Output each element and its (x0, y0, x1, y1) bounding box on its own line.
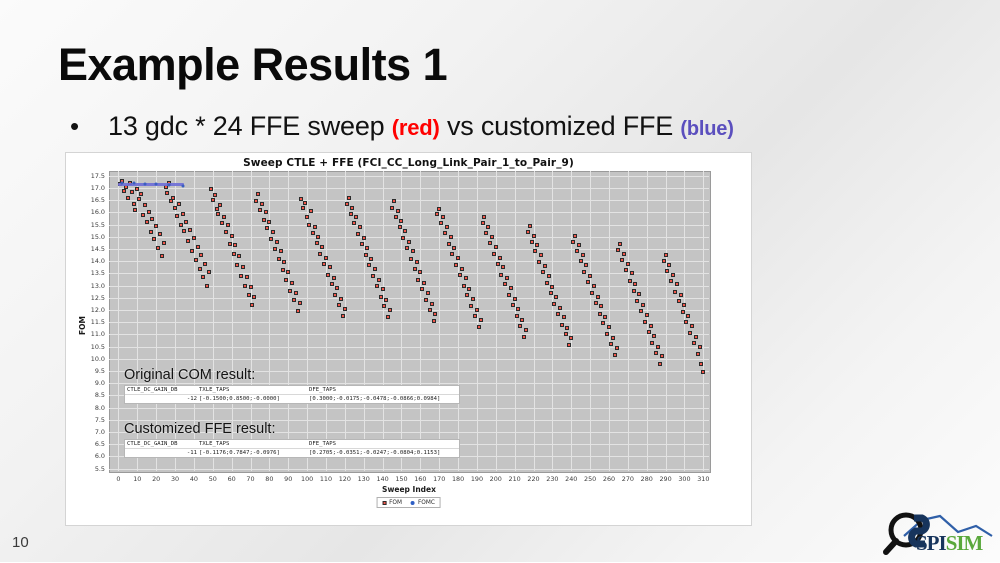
y-tick-label: 8.0 (65, 404, 105, 412)
data-point-fom (354, 215, 358, 219)
data-point-fom (528, 224, 532, 228)
y-gridline (109, 347, 709, 348)
data-point-fom (445, 225, 449, 229)
data-point-fom (449, 235, 453, 239)
data-point-fom (615, 346, 619, 350)
data-point-fom (609, 342, 613, 346)
data-point-fom (198, 267, 202, 271)
y-gridline (109, 237, 709, 238)
data-point-fom (258, 208, 262, 212)
data-point-fom (643, 320, 647, 324)
x-tick-label: 280 (641, 475, 653, 483)
page-number: 10 (12, 534, 29, 551)
data-point-fom (694, 335, 698, 339)
legend-item-fom: FOM (382, 500, 402, 506)
data-point-fom (184, 220, 188, 224)
x-tick-label: 150 (395, 475, 407, 483)
data-point-fom (226, 223, 230, 227)
data-point-fom (482, 215, 486, 219)
y-tick-label: 12.0 (65, 306, 105, 314)
data-point-fom (624, 268, 628, 272)
data-point-fom (549, 291, 553, 295)
data-point-fom (369, 257, 373, 261)
x-tick-label: 140 (376, 475, 388, 483)
data-point-fom (411, 249, 415, 253)
data-point-fom (247, 293, 251, 297)
data-point-fom (296, 309, 300, 313)
data-point-fom (273, 247, 277, 251)
x-tick-label: 130 (358, 475, 370, 483)
data-point-fom (496, 262, 500, 266)
data-point-fom (230, 234, 234, 238)
data-point-fom (401, 236, 405, 240)
data-point-fom (165, 191, 169, 195)
data-point-fom (313, 225, 317, 229)
data-point-fom (377, 278, 381, 282)
data-point-fom (415, 260, 419, 264)
x-tick-label: 90 (284, 475, 292, 483)
data-point-fom (177, 202, 181, 206)
data-point-fom (541, 270, 545, 274)
data-point-fom (241, 265, 245, 269)
anno1-col-1: TXLE_TAPS (199, 441, 309, 447)
data-point-fom (249, 285, 253, 289)
y-tick-label: 6.0 (65, 452, 105, 460)
data-point-fom (318, 252, 322, 256)
data-point-fom (426, 291, 430, 295)
annotation-original-com: Original COM result: CTLE_DC_GAIN_DB TXL… (124, 367, 460, 404)
data-point-fom (316, 235, 320, 239)
data-point-fom (645, 313, 649, 317)
data-point-fom (228, 242, 232, 246)
x-tick-label: 300 (678, 475, 690, 483)
bullet-text-part1: 13 gdc * 24 FFE sweep (108, 111, 392, 141)
chart-container: Sweep CTLE + FFE (FCI_CC_Long_Link_Pair_… (66, 153, 751, 525)
x-tick-label: 120 (339, 475, 351, 483)
y-tick-label: 9.0 (65, 379, 105, 387)
data-point-fom (475, 308, 479, 312)
data-point-fomc (121, 181, 124, 184)
data-point-fom (569, 336, 573, 340)
x-gridline (590, 171, 591, 471)
y-gridline (109, 225, 709, 226)
data-point-fom (418, 270, 422, 274)
data-point-fom (311, 231, 315, 235)
x-tick-label: 20 (152, 475, 160, 483)
bullet-text: 13 gdc * 24 FFE sweep (red) vs customize… (108, 111, 734, 142)
x-tick-label: 310 (697, 475, 709, 483)
data-point-fom (192, 236, 196, 240)
anno1-val-2: [0.2705;-0.0351;-0.0247;-0.0804;0.1153] (309, 450, 459, 456)
data-point-fom (216, 212, 220, 216)
data-point-fom (250, 303, 254, 307)
y-gridline (109, 359, 709, 360)
data-point-fom (588, 274, 592, 278)
data-point-fom (188, 228, 192, 232)
data-point-fom (603, 315, 607, 319)
y-tick-label: 6.5 (65, 440, 105, 448)
legend-label: FOMC (418, 500, 435, 506)
x-tick-label: 170 (433, 475, 445, 483)
data-point-fomc (132, 182, 135, 185)
data-point-fom (284, 278, 288, 282)
x-tick-label: 220 (527, 475, 539, 483)
data-point-fom (175, 214, 179, 218)
data-point-fom (262, 218, 266, 222)
data-point-fom (245, 275, 249, 279)
data-point-fom (422, 281, 426, 285)
data-point-fom (437, 207, 441, 211)
data-point-fom (394, 215, 398, 219)
chart-legend: FOM FOMC (376, 497, 441, 508)
x-tick-label: 230 (546, 475, 558, 483)
data-point-fom (209, 187, 213, 191)
x-gridline (571, 171, 572, 471)
data-point-fom (356, 232, 360, 236)
x-tick-label: 260 (603, 475, 615, 483)
x-tick-label: 80 (265, 475, 273, 483)
data-point-fom (398, 225, 402, 229)
y-gridline (109, 322, 709, 323)
data-point-fom (699, 362, 703, 366)
data-point-fom (682, 303, 686, 307)
x-gridline (118, 171, 119, 471)
x-tick-label: 40 (190, 475, 198, 483)
x-gridline (552, 171, 553, 471)
y-gridline (109, 310, 709, 311)
data-point-fom (233, 243, 237, 247)
x-gridline (534, 171, 535, 471)
data-point-fom (139, 192, 143, 196)
x-gridline (515, 171, 516, 471)
anno0-val-2: [0.3000;-0.0175;-0.0478;-0.0866;0.0984] (309, 396, 459, 402)
y-tick-label: 10.5 (65, 343, 105, 351)
annotation-heading: Customized FFE result: (124, 421, 460, 437)
data-point-fom (560, 323, 564, 327)
data-point-fom (332, 276, 336, 280)
data-point-fom (465, 293, 469, 297)
data-point-fom (547, 274, 551, 278)
data-point-fom (522, 335, 526, 339)
data-point-fom (441, 215, 445, 219)
y-tick-label: 8.5 (65, 391, 105, 399)
data-point-fom (190, 249, 194, 253)
data-point-fom (315, 241, 319, 245)
y-gridline (109, 469, 709, 470)
data-point-fom (301, 206, 305, 210)
data-point-fom (537, 260, 541, 264)
data-point-fom (567, 343, 571, 347)
data-point-fom (381, 287, 385, 291)
data-point-fom (243, 284, 247, 288)
data-point-fom (490, 235, 494, 239)
x-tick-label: 70 (246, 475, 254, 483)
data-point-fom (456, 256, 460, 260)
data-point-fom (616, 248, 620, 252)
data-point-fom (598, 312, 602, 316)
data-point-fom (690, 324, 694, 328)
annotation-customized-ffe: Customized FFE result: CTLE_DC_GAIN_DB T… (124, 421, 460, 458)
annotation-heading: Original COM result: (124, 367, 460, 383)
data-point-fom (439, 221, 443, 225)
data-point-fom (443, 231, 447, 235)
data-point-fom (352, 221, 356, 225)
y-tick-label: 16.5 (65, 196, 105, 204)
data-point-fom (290, 281, 294, 285)
data-point-fom (565, 326, 569, 330)
data-point-fom (364, 253, 368, 257)
data-point-fom (701, 370, 705, 374)
data-point-fom (562, 315, 566, 319)
data-point-fom (592, 284, 596, 288)
data-point-fom (511, 303, 515, 307)
y-tick-label: 16.0 (65, 208, 105, 216)
data-point-fom (326, 273, 330, 277)
data-point-fom (196, 245, 200, 249)
data-point-fom (392, 199, 396, 203)
data-point-fomc (181, 184, 184, 187)
data-point-fom (265, 226, 269, 230)
data-point-fom (435, 212, 439, 216)
anno1-val-1: [-0.1176;0.7847;-0.0976] (199, 450, 309, 456)
data-point-fom (605, 332, 609, 336)
y-gridline (109, 188, 709, 189)
data-point-fom (207, 270, 211, 274)
y-tick-label: 17.5 (65, 172, 105, 180)
data-point-fom (692, 341, 696, 345)
data-point-fom (652, 334, 656, 338)
data-point-fom (162, 241, 166, 245)
x-gridline (666, 171, 667, 471)
data-point-fom (675, 282, 679, 286)
data-point-fom (518, 324, 522, 328)
x-tick-label: 200 (490, 475, 502, 483)
data-point-fom (150, 217, 154, 221)
data-point-fom (513, 297, 517, 301)
data-point-fom (577, 243, 581, 247)
data-point-fom (662, 259, 666, 263)
x-tick-label: 250 (584, 475, 596, 483)
data-point-fom (264, 210, 268, 214)
data-point-fom (349, 212, 353, 216)
x-gridline (703, 171, 704, 471)
y-tick-label: 13.0 (65, 282, 105, 290)
data-point-fom (579, 259, 583, 263)
anno1-col-0: CTLE_DC_GAIN_DB (125, 441, 199, 447)
data-point-fom (271, 230, 275, 234)
data-point-fom (279, 249, 283, 253)
fomc-trend-line (118, 183, 184, 186)
x-tick-label: 10 (133, 475, 141, 483)
data-point-fom (339, 297, 343, 301)
data-point-fom (213, 193, 217, 197)
data-point-fom (320, 245, 324, 249)
data-point-fom (307, 223, 311, 227)
y-tick-label: 12.5 (65, 294, 105, 302)
data-point-fom (622, 252, 626, 256)
data-point-fom (469, 304, 473, 308)
data-point-fom (509, 286, 513, 290)
data-point-fom (630, 271, 634, 275)
data-point-fom (386, 315, 390, 319)
y-tick-label: 10.0 (65, 355, 105, 363)
data-point-fom (586, 280, 590, 284)
data-point-fom (637, 292, 641, 296)
data-point-fom (294, 291, 298, 295)
data-point-fom (305, 215, 309, 219)
data-point-fom (335, 286, 339, 290)
data-point-fom (656, 345, 660, 349)
data-point-fom (237, 254, 241, 258)
y-tick-label: 13.5 (65, 269, 105, 277)
data-point-fom (367, 263, 371, 267)
anno0-val-0: -12 (125, 396, 199, 402)
data-point-fom (515, 314, 519, 318)
x-gridline (628, 171, 629, 471)
data-point-fom (679, 293, 683, 297)
data-point-fom (343, 307, 347, 311)
data-point-fom (535, 243, 539, 247)
data-point-fom (628, 279, 632, 283)
data-point-fom (503, 282, 507, 286)
data-point-fom (413, 267, 417, 271)
data-point-fom (328, 265, 332, 269)
data-point-fom (362, 236, 366, 240)
data-point-fom (235, 263, 239, 267)
data-point-fom (669, 279, 673, 283)
data-point-fom (298, 301, 302, 305)
data-point-fom (390, 206, 394, 210)
data-point-fom (181, 212, 185, 216)
x-gridline (647, 171, 648, 471)
data-point-fom (671, 273, 675, 277)
y-tick-label: 15.0 (65, 233, 105, 241)
data-point-fom (654, 351, 658, 355)
data-point-fom (626, 262, 630, 266)
data-point-fom (222, 215, 226, 219)
data-point-fom (664, 253, 668, 257)
data-point-fom (379, 295, 383, 299)
bullet-item: • 13 gdc * 24 FFE sweep (red) vs customi… (70, 106, 970, 146)
y-gridline (109, 334, 709, 335)
legend-item-fomc: FOMC (411, 500, 435, 506)
anno0-col-2: DFE_TAPS (309, 387, 459, 393)
data-point-fom (399, 219, 403, 223)
data-point-fom (452, 246, 456, 250)
data-point-fom (667, 263, 671, 267)
data-point-fom (520, 318, 524, 322)
data-point-fom (618, 242, 622, 246)
data-point-fom (286, 270, 290, 274)
data-point-fom (660, 354, 664, 358)
data-point-fom (432, 319, 436, 323)
data-point-fom (407, 240, 411, 244)
data-point-fom (639, 309, 643, 313)
data-point-fom (126, 196, 130, 200)
data-point-fom (492, 252, 496, 256)
data-point-fom (145, 220, 149, 224)
data-point-fom (688, 331, 692, 335)
data-point-fom (350, 206, 354, 210)
data-point-fom (133, 208, 137, 212)
data-point-fom (607, 325, 611, 329)
data-point-fom (275, 240, 279, 244)
data-point-fom (479, 318, 483, 322)
data-point-fom (462, 284, 466, 288)
data-point-fom (182, 229, 186, 233)
data-point-fom (260, 202, 264, 206)
anno1-val-0: -11 (125, 450, 199, 456)
data-point-fom (232, 252, 236, 256)
data-point-fom (507, 293, 511, 297)
data-point-fom (147, 210, 151, 214)
data-point-fom (543, 264, 547, 268)
data-point-fom (447, 242, 451, 246)
data-point-fom (582, 270, 586, 274)
data-point-fom (530, 240, 534, 244)
data-point-fom (677, 299, 681, 303)
data-point-fom (269, 237, 273, 241)
data-point-fom (428, 308, 432, 312)
data-point-fom (360, 242, 364, 246)
data-point-fom (171, 196, 175, 200)
data-point-fom (373, 267, 377, 271)
data-point-fom (345, 202, 349, 206)
data-point-fom (533, 249, 537, 253)
data-point-fom (601, 321, 605, 325)
legend-dot-icon (411, 501, 415, 505)
bullet-marker: • (70, 113, 108, 139)
y-gridline (109, 200, 709, 201)
data-point-fom (205, 284, 209, 288)
x-tick-label: 190 (471, 475, 483, 483)
data-point-fom (635, 299, 639, 303)
data-point-fom (590, 291, 594, 295)
y-gridline (109, 212, 709, 213)
y-tick-label: 7.5 (65, 416, 105, 424)
y-gridline (109, 408, 709, 409)
data-point-fom (486, 225, 490, 229)
data-point-fom (218, 203, 222, 207)
page-title: Example Results 1 (58, 41, 447, 88)
data-point-fomc (143, 182, 146, 185)
data-point-fomc (155, 183, 158, 186)
data-point-fom (388, 308, 392, 312)
data-point-fom (141, 213, 145, 217)
anno0-val-1: [-0.1500;0.8500;-0.0000] (199, 396, 309, 402)
data-point-fom (324, 256, 328, 260)
data-point-fom (450, 252, 454, 256)
data-point-fom (681, 310, 685, 314)
data-point-fom (169, 199, 173, 203)
data-point-fom (467, 287, 471, 291)
data-point-fom (122, 189, 126, 193)
data-point-fom (433, 312, 437, 316)
data-point-fom (322, 262, 326, 266)
data-point-fom (632, 289, 636, 293)
data-point-fom (281, 268, 285, 272)
data-point-fom (211, 198, 215, 202)
data-point-fom (477, 325, 481, 329)
data-point-fom (684, 320, 688, 324)
x-tick-label: 270 (622, 475, 634, 483)
y-gridline (109, 298, 709, 299)
y-tick-label: 14.5 (65, 245, 105, 253)
data-point-fom (409, 257, 413, 261)
bullet-blue-label: (blue) (680, 118, 733, 140)
data-point-fom (573, 234, 577, 238)
data-point-fom (252, 295, 256, 299)
